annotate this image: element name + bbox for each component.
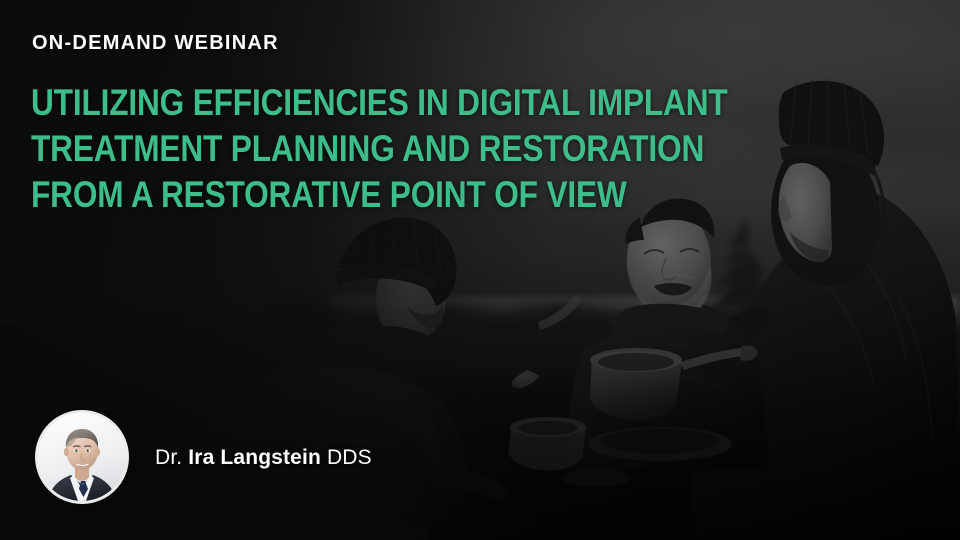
headline-line-3: FROM A RESTORATIVE POINT OF VIEW [31, 172, 630, 218]
avatar [38, 413, 126, 501]
speaker-prefix: Dr. [155, 446, 182, 469]
speaker-name: Dr. Ira Langstein DDS [155, 447, 372, 468]
headline-line-2: TREATMENT PLANNING AND RESTORATION [31, 126, 630, 172]
speaker-credentials: DDS [327, 446, 372, 469]
webinar-promo-banner: ON-DEMAND WEBINAR UTILIZING EFFICIENCIES… [0, 0, 960, 540]
speaker-block: Dr. Ira Langstein DDS [38, 413, 372, 501]
banner-content: ON-DEMAND WEBINAR UTILIZING EFFICIENCIES… [0, 0, 960, 540]
eyebrow-label: ON-DEMAND WEBINAR [32, 33, 279, 53]
speaker-fullname: Ira Langstein [188, 446, 321, 469]
headline-line-1: UTILIZING EFFICIENCIES IN DIGITAL IMPLAN… [31, 80, 630, 126]
page-title: UTILIZING EFFICIENCIES IN DIGITAL IMPLAN… [31, 80, 731, 218]
